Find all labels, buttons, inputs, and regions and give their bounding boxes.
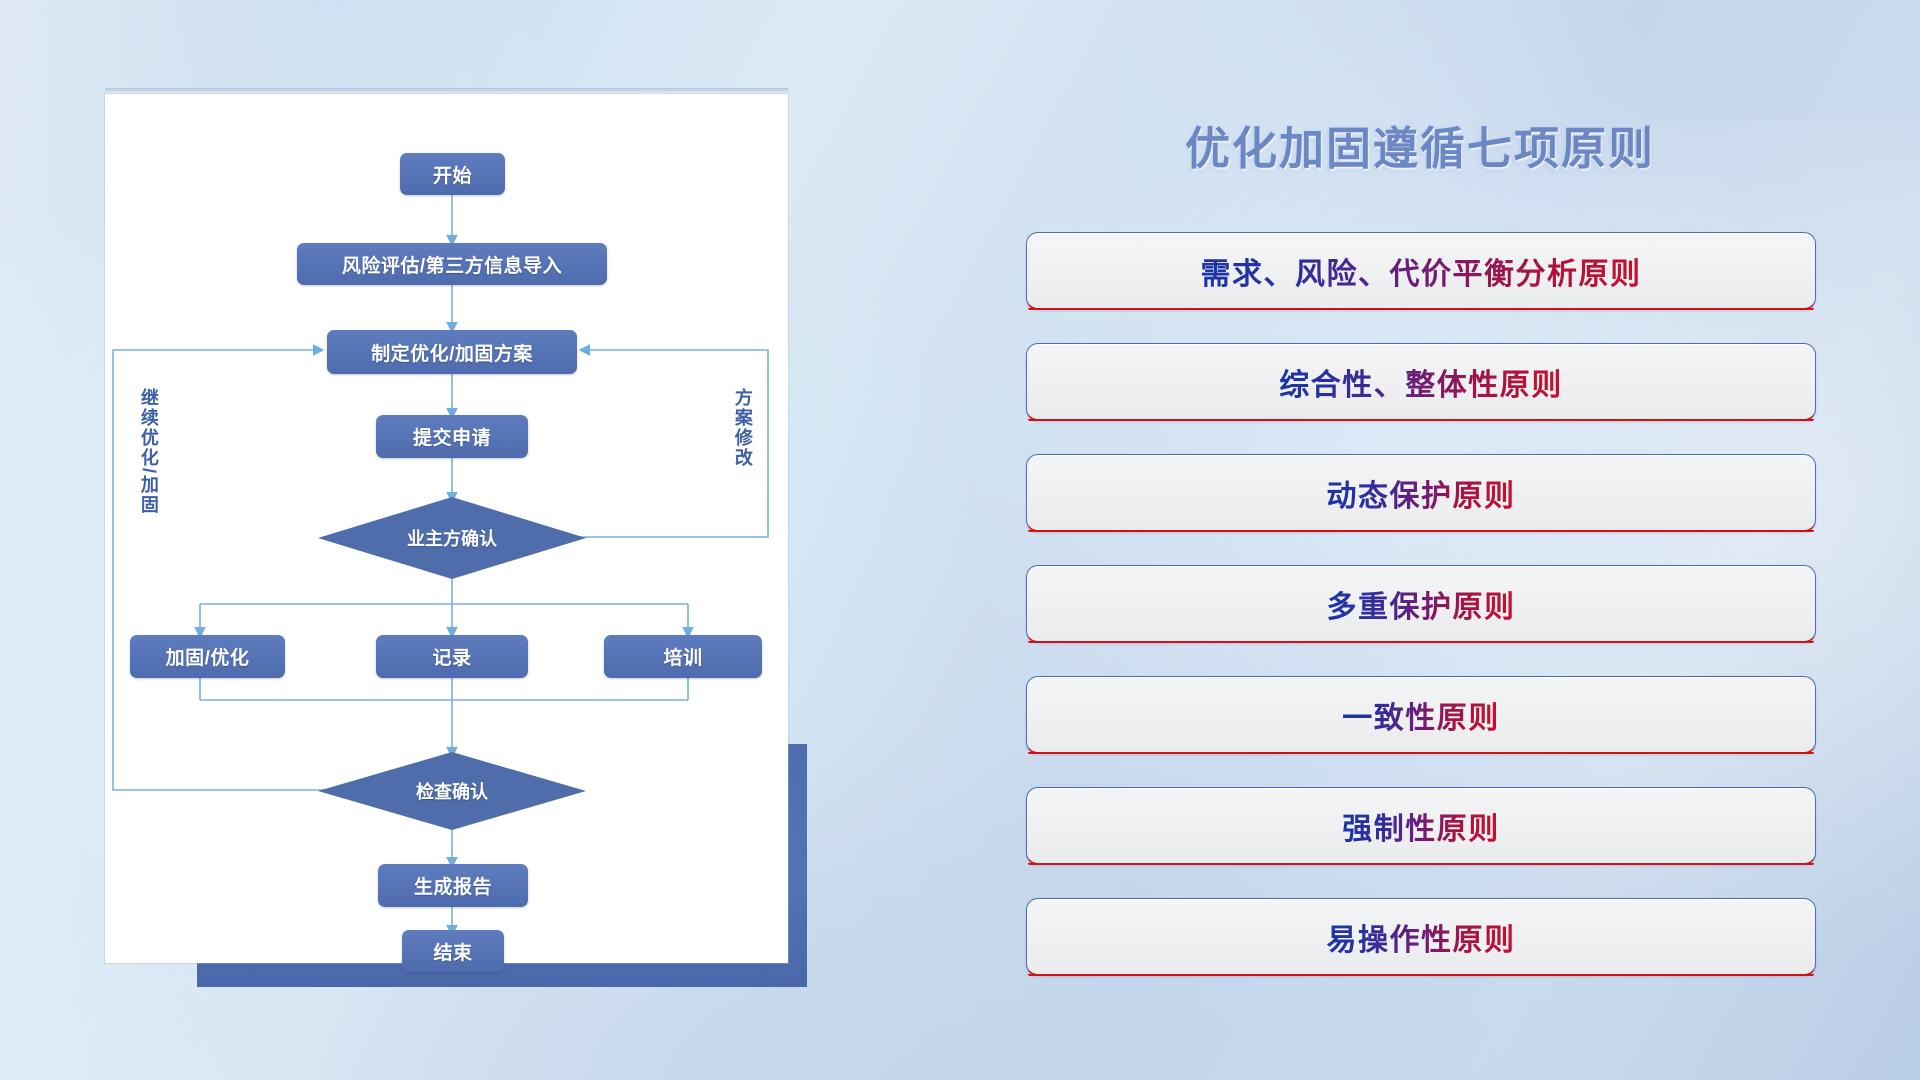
- flow-node-label: 业主方确认: [407, 525, 497, 551]
- flowchart-panel: 开始 风险评估/第三方信息导入 制定优化/加固方案 提交申请 业主方确认 加固/…: [0, 0, 830, 1080]
- flow-node-label: 生成报告: [414, 872, 492, 899]
- principle-label: 易操作性原则: [1327, 915, 1516, 959]
- flow-node-label: 风险评估/第三方信息导入: [342, 251, 562, 278]
- flow-decision-owner-confirm[interactable]: 业主方确认: [318, 497, 586, 579]
- flow-node-label: 开始: [433, 161, 472, 188]
- page-title: 优化加固遵循七项原则: [1010, 112, 1830, 177]
- principles-list: 需求、风险、代价平衡分析原则 综合性、整体性原则 动态保护原则 多重保护原则 一…: [1026, 232, 1816, 1009]
- flow-node-plan[interactable]: 制定优化/加固方案: [327, 330, 577, 374]
- list-item[interactable]: 强制性原则: [1026, 787, 1816, 865]
- flow-node-submit-application[interactable]: 提交申请: [376, 415, 528, 458]
- principle-label: 需求、风险、代价平衡分析原则: [1201, 249, 1642, 293]
- principle-label: 多重保护原则: [1327, 582, 1516, 626]
- flow-node-start[interactable]: 开始: [400, 153, 505, 195]
- flow-node-record[interactable]: 记录: [376, 635, 528, 678]
- flow-node-label: 结束: [433, 938, 472, 965]
- flow-node-label: 提交申请: [413, 423, 491, 450]
- flow-node-generate-report[interactable]: 生成报告: [378, 864, 528, 907]
- flow-edge-label-left-loop: 继续优化/加固: [139, 388, 158, 515]
- flow-node-label: 制定优化/加固方案: [371, 339, 533, 366]
- flow-node-end[interactable]: 结束: [402, 930, 504, 972]
- list-item[interactable]: 综合性、整体性原则: [1026, 343, 1816, 421]
- flow-decision-inspection-confirm[interactable]: 检查确认: [318, 752, 586, 830]
- flow-node-label: 加固/优化: [166, 643, 250, 670]
- principle-label: 强制性原则: [1342, 804, 1500, 848]
- flow-node-label: 检查确认: [416, 778, 488, 804]
- flow-node-label: 记录: [432, 643, 471, 670]
- list-item[interactable]: 一致性原则: [1026, 676, 1816, 754]
- flow-edge-label-right-loop: 方案修改: [733, 388, 752, 468]
- principle-label: 一致性原则: [1342, 693, 1500, 737]
- list-item[interactable]: 动态保护原则: [1026, 454, 1816, 532]
- principles-panel: 优化加固遵循七项原则 需求、风险、代价平衡分析原则 综合性、整体性原则 动态保护…: [1010, 0, 1920, 1080]
- list-item[interactable]: 需求、风险、代价平衡分析原则: [1026, 232, 1816, 310]
- flow-node-reinforce[interactable]: 加固/优化: [130, 635, 285, 678]
- list-item[interactable]: 多重保护原则: [1026, 565, 1816, 643]
- flow-node-training[interactable]: 培训: [604, 635, 762, 678]
- principle-label: 动态保护原则: [1327, 471, 1516, 515]
- principle-label: 综合性、整体性原则: [1279, 360, 1563, 404]
- flow-node-risk-assessment[interactable]: 风险评估/第三方信息导入: [297, 243, 607, 285]
- flow-node-label: 培训: [663, 643, 702, 670]
- list-item[interactable]: 易操作性原则: [1026, 898, 1816, 976]
